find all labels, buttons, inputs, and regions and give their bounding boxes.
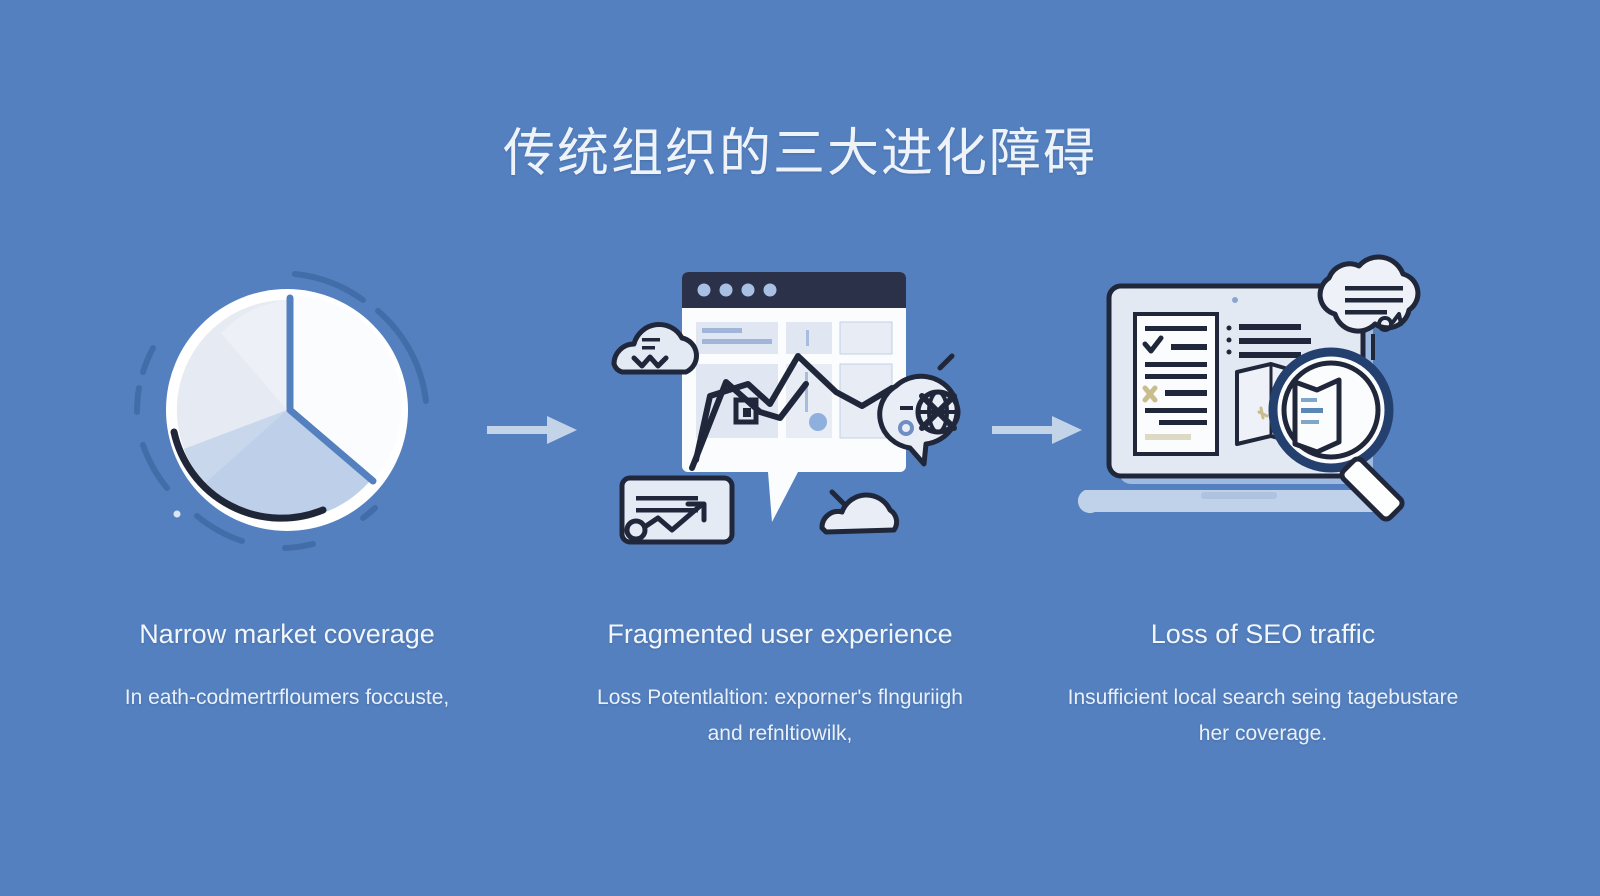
pie-chart-icon	[117, 260, 457, 560]
arrow-right-icon	[485, 412, 581, 448]
arrow-one-to-two	[485, 412, 581, 448]
laptop-search-icon	[1083, 260, 1443, 560]
caption-subtitle-fragmented-user-experience: Loss Potentlaltion: exporner's flnguriig…	[580, 680, 980, 751]
document-side-lines	[1227, 324, 1312, 358]
magnifier-map-detail	[1295, 380, 1339, 452]
browser-line-1	[702, 328, 742, 333]
browser-window-illustration	[610, 260, 950, 560]
column-narrow-market-coverage: Narrow market coverage In eath-codmertrf…	[77, 260, 497, 716]
page-title: 传统组织的三大进化障碍	[0, 126, 1600, 183]
slide-canvas: 传统组织的三大进化障碍	[0, 0, 1600, 896]
growth-card-icon	[622, 478, 732, 542]
column-loss-of-seo-traffic: Loss of SEO traffic Insufficient local s…	[1053, 260, 1473, 751]
browser-line-2	[702, 339, 772, 344]
caption-subtitle-loss-of-seo-traffic: Insufficient local search seing tagebust…	[1063, 680, 1463, 751]
browser-dot-accent	[809, 413, 827, 431]
browser-window-icon	[600, 260, 960, 560]
browser-title-bar	[682, 272, 906, 308]
checklist-document	[1135, 314, 1217, 454]
caption-subtitle-narrow-market-coverage: In eath-codmertrfloumers foccuste,	[87, 680, 487, 715]
caption-title-narrow-market-coverage: Narrow market coverage	[139, 618, 435, 650]
pie-chart-illustration	[117, 260, 457, 560]
caption-title-loss-of-seo-traffic: Loss of SEO traffic	[1151, 618, 1376, 650]
column-fragmented-user-experience: Fragmented user experience Loss Potentla…	[570, 260, 990, 751]
browser-tick-1	[806, 330, 809, 346]
laptop-trackpad	[1201, 492, 1277, 499]
caption-title-fragmented-user-experience: Fragmented user experience	[607, 618, 952, 650]
laptop-search-illustration	[1093, 260, 1433, 560]
browser-block-3	[840, 322, 892, 354]
browser-block-1	[696, 322, 778, 354]
fragment-glyph-fill	[743, 408, 751, 417]
laptop-camera-icon	[1232, 297, 1238, 303]
browser-tick-2	[805, 372, 808, 412]
pie-dot-marker	[174, 511, 181, 518]
cloud-right-icon	[822, 492, 897, 532]
